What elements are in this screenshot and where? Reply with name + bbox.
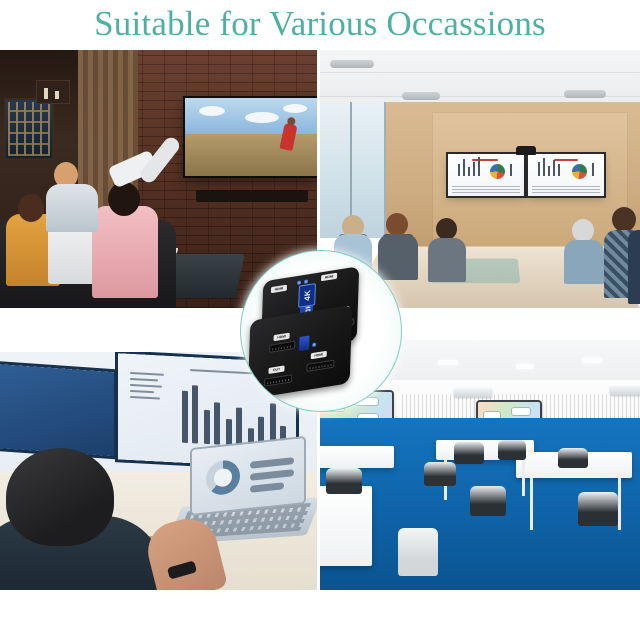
television-screen [185, 98, 317, 176]
hdmi-port [306, 360, 334, 372]
resolution-badge: 4K [298, 283, 316, 308]
chart-bar [226, 419, 232, 445]
cloud-shape [283, 104, 307, 113]
stat-bar [250, 469, 294, 481]
tv-console [196, 190, 308, 202]
city-lights [8, 102, 50, 156]
chair [424, 462, 456, 486]
person-head [572, 219, 594, 242]
laptop-screen [192, 438, 304, 514]
ceiling-light [438, 360, 458, 365]
text-line [130, 378, 158, 381]
product-image: HDMI HDMI HDMI 4K HDMI HDMI ♪ HDMI [241, 251, 401, 411]
chart-bar [553, 160, 555, 176]
stat-bar [250, 482, 284, 493]
product-badge: HDMI HDMI HDMI 4K HDMI HDMI ♪ HDMI [240, 250, 402, 412]
chart-bar [463, 159, 465, 176]
chair [398, 528, 438, 576]
chart-bar [458, 164, 460, 176]
display-table-rows [452, 184, 520, 193]
desk-leg [618, 478, 621, 530]
ceiling-line [320, 72, 640, 73]
brand-strip-small [299, 335, 309, 351]
chart-bar [236, 408, 242, 446]
candle-icon [44, 88, 48, 99]
person-seated [46, 184, 98, 232]
display-left [448, 154, 524, 196]
chart-bar [592, 163, 594, 176]
ceiling-vent [330, 60, 374, 68]
window [4, 98, 54, 160]
chair [498, 440, 526, 460]
person-standing [628, 230, 640, 304]
desk [320, 486, 372, 566]
hdmi-port [269, 341, 295, 353]
chart-bar [510, 164, 512, 176]
pie-chart [490, 164, 505, 179]
display-title-line [554, 159, 578, 161]
chart-bar [214, 402, 220, 444]
chart-bar [548, 166, 550, 176]
person-seated [92, 206, 158, 298]
desk-leg [530, 478, 533, 530]
chair [470, 486, 506, 516]
chart-bar [182, 391, 188, 443]
text-line [130, 384, 162, 387]
chart-bar [478, 157, 480, 176]
hdmi-switch-device-front: HDMI HDMI OUT [248, 305, 353, 400]
chart-bar [192, 385, 198, 443]
person-seated [428, 238, 466, 282]
text-line [130, 390, 154, 393]
desk [320, 446, 394, 468]
diagram-node [512, 408, 530, 415]
video-camera-icon [516, 146, 536, 155]
chart-bar [468, 167, 470, 176]
status-led [312, 343, 316, 347]
page-title: Suitable for Various Occassions [0, 0, 640, 48]
text-line [130, 372, 164, 375]
person-head [18, 194, 44, 222]
ceiling-vent [402, 92, 440, 100]
chart-bar [473, 162, 475, 176]
air-conditioner [610, 386, 640, 395]
candle-icon [55, 91, 59, 99]
wall-shelf [36, 80, 70, 104]
person-head [6, 448, 114, 546]
ceiling-light [582, 358, 602, 363]
chair [326, 468, 362, 494]
port-label: HDMI [321, 273, 337, 282]
donut-chart [206, 459, 240, 497]
person-head [108, 182, 140, 216]
chart-bar [204, 410, 210, 444]
cloud-shape [199, 106, 225, 116]
air-conditioner [454, 388, 492, 397]
promo-poster: Suitable for Various Occassions [0, 0, 640, 619]
person-seated [564, 240, 604, 284]
chair [558, 448, 588, 468]
chair [578, 492, 618, 526]
monitor-left [0, 364, 114, 456]
hdmi-port [264, 374, 292, 386]
display-table-rows [532, 184, 600, 193]
display-right [528, 154, 604, 196]
page-title-text: Suitable for Various Occassions [94, 4, 546, 44]
person-head [612, 207, 636, 232]
chair [454, 442, 484, 464]
ceiling-light [516, 364, 534, 369]
text-line [130, 396, 160, 399]
port-label: HDMI [311, 351, 327, 360]
port-label: HDMI [274, 333, 290, 342]
status-led [297, 280, 301, 284]
tv-field [185, 134, 317, 176]
chart-bar [558, 164, 560, 176]
chart-bar [538, 162, 540, 176]
person-head [436, 218, 457, 240]
port-label: OUT [268, 365, 284, 374]
ceiling-vent [564, 90, 606, 98]
stat-bar [250, 457, 294, 469]
desk-leg [522, 460, 525, 496]
cloud-shape [245, 112, 279, 123]
pie-chart [572, 164, 587, 179]
status-led [304, 279, 308, 283]
display-title-line [472, 159, 498, 161]
port-label: HDMI [271, 285, 287, 294]
chart-bar [543, 158, 545, 176]
person-head [386, 213, 408, 236]
